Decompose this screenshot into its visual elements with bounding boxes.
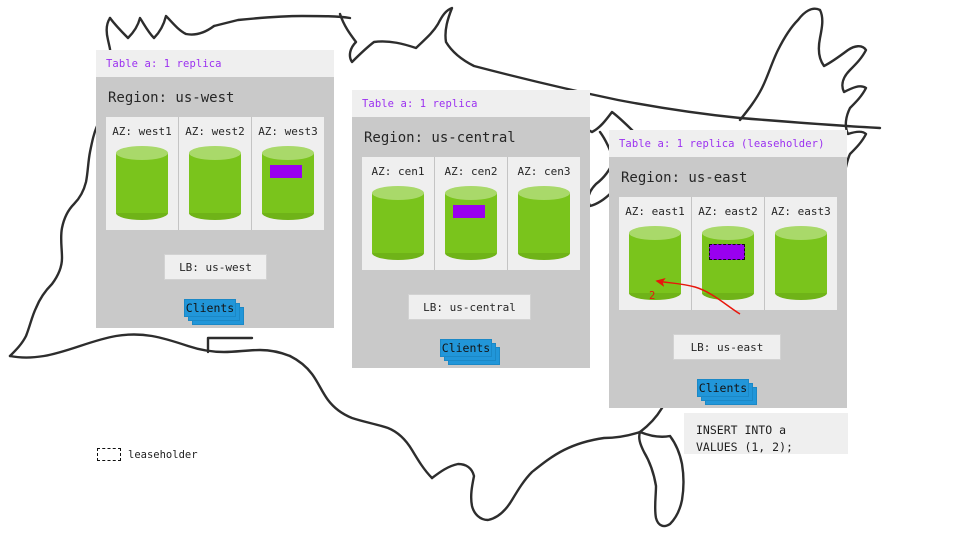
node-cylinder[interactable] xyxy=(775,226,827,300)
region-panel-us-central: Table a: 1 replica Region: us-central AZ… xyxy=(352,90,590,368)
legend: leaseholder xyxy=(97,448,198,461)
legend-label: leaseholder xyxy=(128,449,198,461)
region-title-us-west: Region: us-west xyxy=(106,77,324,117)
region-panel-us-west: Table a: 1 replica Region: us-west AZ: w… xyxy=(96,50,334,328)
region-header-us-west: Table a: 1 replica xyxy=(96,50,334,77)
cylinder-top xyxy=(518,186,570,200)
cylinder-top xyxy=(775,226,827,240)
load-balancer-us-west[interactable]: LB: us-west xyxy=(164,254,267,280)
region-body-us-east: Region: us-east AZ: east1 AZ: east2 xyxy=(609,157,847,408)
az-east3[interactable]: AZ: east3 xyxy=(764,197,837,310)
cylinder-top xyxy=(629,226,681,240)
sql-statement-box: INSERT INTO a VALUES (1, 2); xyxy=(684,413,848,454)
az-label: AZ: west3 xyxy=(258,125,318,138)
cylinder-top xyxy=(372,186,424,200)
clients-button[interactable]: Clients xyxy=(184,299,236,317)
cylinder-body xyxy=(116,153,168,213)
clients-button[interactable]: Clients xyxy=(697,379,749,397)
region-header-us-central: Table a: 1 replica xyxy=(352,90,590,117)
node-cylinder[interactable] xyxy=(518,186,570,260)
node-cylinder[interactable] xyxy=(702,226,754,300)
az-label: AZ: east1 xyxy=(625,205,685,218)
load-balancer-us-east[interactable]: LB: us-east xyxy=(673,334,781,360)
cylinder-top xyxy=(445,186,497,200)
arrow-label-2: 2 xyxy=(649,290,655,302)
az-label: AZ: east3 xyxy=(771,205,831,218)
cylinder-body xyxy=(372,193,424,253)
cylinder-body xyxy=(702,233,754,293)
az-west1[interactable]: AZ: west1 xyxy=(106,117,178,230)
node-cylinder[interactable] xyxy=(116,146,168,220)
az-label: AZ: cen1 xyxy=(372,165,425,178)
az-cen2[interactable]: AZ: cen2 xyxy=(434,157,507,270)
az-label: AZ: west2 xyxy=(185,125,245,138)
cylinder-body xyxy=(518,193,570,253)
az-label: AZ: east2 xyxy=(698,205,758,218)
replica-marker xyxy=(453,205,485,218)
region-body-us-central: Region: us-central AZ: cen1 AZ: cen2 xyxy=(352,117,590,368)
cylinder-body xyxy=(262,153,314,213)
region-panel-us-east: Table a: 1 replica (leaseholder) Region:… xyxy=(609,130,847,408)
az-west2[interactable]: AZ: west2 xyxy=(178,117,251,230)
cylinder-top xyxy=(116,146,168,160)
cylinder-body xyxy=(775,233,827,293)
dashed-rectangle-icon xyxy=(97,448,121,461)
leaseholder-replica-marker xyxy=(709,244,745,260)
cylinder-top xyxy=(262,146,314,160)
cylinder-body xyxy=(189,153,241,213)
clients-us-west[interactable]: Clients xyxy=(184,299,246,327)
az-west3[interactable]: AZ: west3 xyxy=(251,117,324,230)
node-cylinder[interactable] xyxy=(629,226,681,300)
node-cylinder[interactable] xyxy=(189,146,241,220)
az-cen3[interactable]: AZ: cen3 xyxy=(507,157,580,270)
clients-us-central[interactable]: Clients xyxy=(440,339,502,367)
az-row-us-west: AZ: west1 AZ: west2 AZ xyxy=(106,117,324,230)
region-header-us-east: Table a: 1 replica (leaseholder) xyxy=(609,130,847,157)
az-cen1[interactable]: AZ: cen1 xyxy=(362,157,434,270)
az-label: AZ: cen2 xyxy=(445,165,498,178)
clients-us-east[interactable]: Clients xyxy=(697,379,759,407)
az-label: AZ: cen3 xyxy=(518,165,571,178)
az-east2[interactable]: AZ: east2 xyxy=(691,197,764,310)
az-row-us-central: AZ: cen1 AZ: cen2 xyxy=(362,157,580,270)
replica-marker xyxy=(270,165,302,178)
clients-button[interactable]: Clients xyxy=(440,339,492,357)
region-title-us-central: Region: us-central xyxy=(362,117,580,157)
cylinder-body xyxy=(445,193,497,253)
cylinder-top xyxy=(189,146,241,160)
node-cylinder[interactable] xyxy=(372,186,424,260)
diagram-canvas: Table a: 1 replica Region: us-west AZ: w… xyxy=(0,0,960,540)
az-label: AZ: west1 xyxy=(112,125,172,138)
node-cylinder[interactable] xyxy=(445,186,497,260)
node-cylinder[interactable] xyxy=(262,146,314,220)
region-body-us-west: Region: us-west AZ: west1 AZ: west2 xyxy=(96,77,334,328)
region-title-us-east: Region: us-east xyxy=(619,157,837,197)
load-balancer-us-central[interactable]: LB: us-central xyxy=(408,294,531,320)
cylinder-top xyxy=(702,226,754,240)
cylinder-body xyxy=(629,233,681,293)
